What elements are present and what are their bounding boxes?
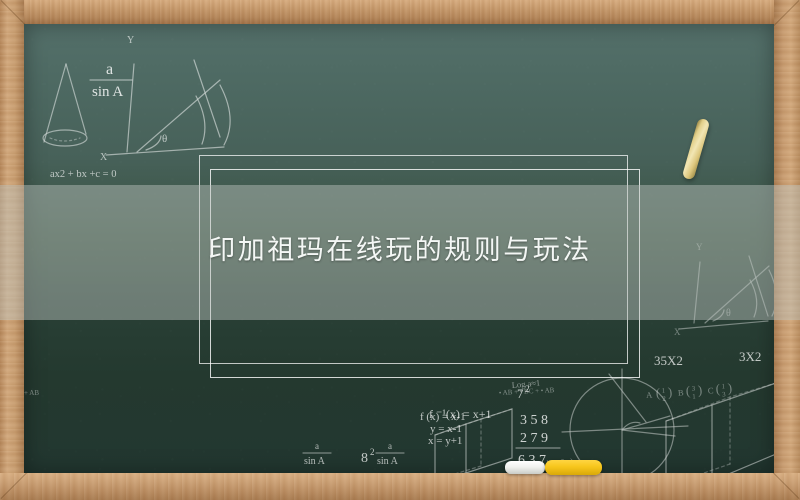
page-title: 印加祖玛在线玩的规则与玩法 (0, 228, 800, 267)
chalkboard-scene: a sin A ax2 + bx +c = 0 Y X (0, 0, 800, 500)
chalk-white-on-ledge (505, 461, 545, 474)
frame-bottom-ledge (0, 473, 800, 500)
decorative-rectangle-inner (210, 169, 640, 378)
frame-top-rail (0, 0, 800, 24)
chalk-yellow-on-ledge (545, 460, 602, 475)
